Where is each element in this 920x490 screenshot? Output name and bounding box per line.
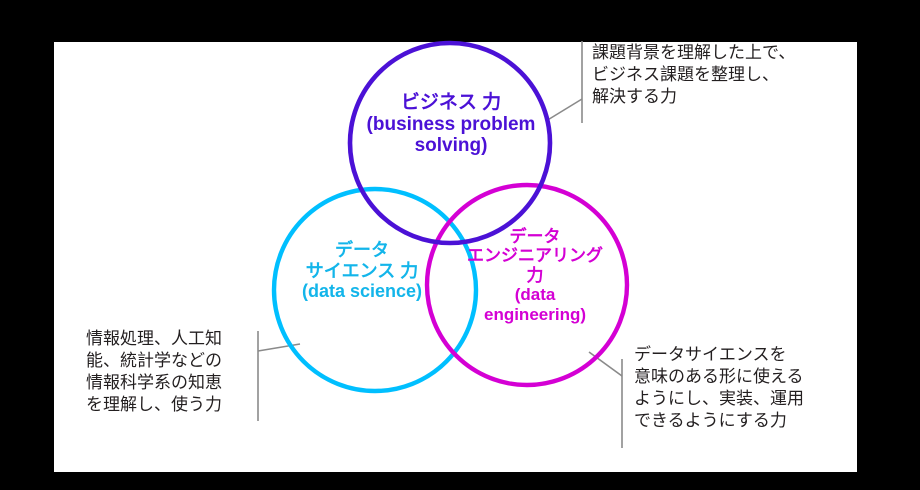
annotation-data-science: 情報処理、人工知 能、統計学などの 情報科学系の知恵 を理解し、使う力 [86,328,262,416]
circle-label-data-science: データ サイエンス 力 (data science) [262,240,462,302]
diagram-stage: ビジネス 力 (business problem solving) データ サイ… [0,0,920,490]
annotation-business: 課題背景を理解した上で、 ビジネス課題を整理し、 解決する力 [592,42,808,108]
annotation-data-engineering: データサイエンスを 意味のある形に使える ようにし、実装、運用 できるようにする… [634,344,846,432]
circle-label-business: ビジネス 力 (business problem solving) [330,92,572,157]
circle-label-data-engineering: データ エンジニアリング 力 (data engineering) [447,227,623,324]
